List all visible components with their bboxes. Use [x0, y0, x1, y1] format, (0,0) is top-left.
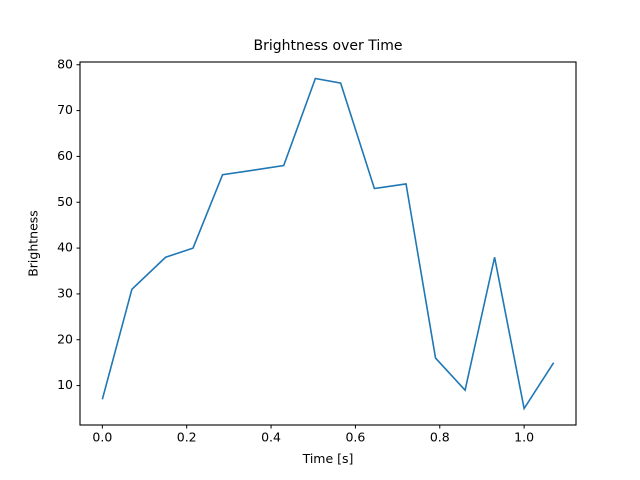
x-tick-label: 0.0: [92, 430, 112, 445]
y-tick-label: 80: [57, 56, 73, 71]
y-axis-label: Brightness: [26, 210, 41, 277]
y-tick-label: 30: [57, 285, 73, 300]
x-axis-label: Time [s]: [302, 451, 354, 466]
y-tick-label: 60: [57, 148, 73, 163]
y-tick-label: 50: [57, 194, 73, 209]
figure-canvas: 0.00.20.40.60.81.01020304050607080Bright…: [0, 0, 640, 480]
x-tick-label: 0.4: [261, 430, 281, 445]
x-tick-label: 1.0: [514, 430, 534, 445]
y-tick-label: 20: [57, 331, 73, 346]
y-tick-label: 70: [57, 102, 73, 117]
y-tick-label: 10: [57, 377, 73, 392]
data-series-line: [102, 79, 553, 409]
chart-title: Brightness over Time: [254, 38, 403, 54]
x-tick-label: 0.6: [345, 430, 365, 445]
x-tick-label: 0.8: [430, 430, 450, 445]
y-tick-label: 40: [57, 240, 73, 255]
line-chart: 0.00.20.40.60.81.01020304050607080Bright…: [0, 0, 640, 480]
x-tick-label: 0.2: [177, 430, 197, 445]
plot-frame: [80, 62, 576, 425]
